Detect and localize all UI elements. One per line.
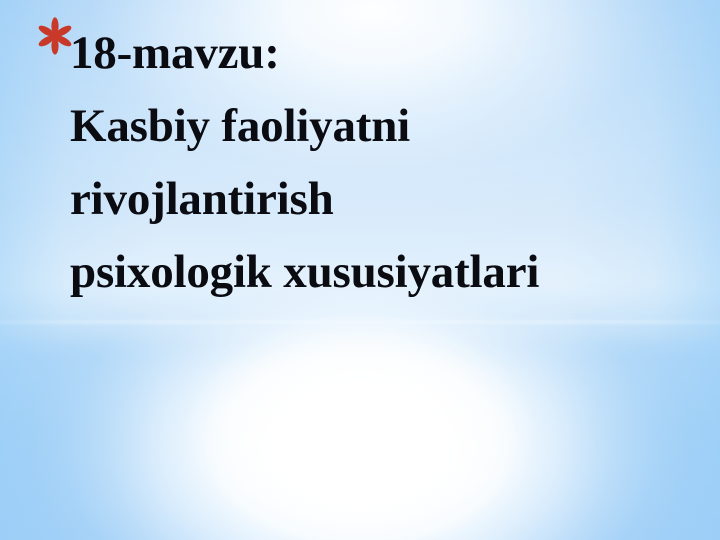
page-title: 18-mavzu:Kasbiy faoliyatnirivojlantirish… <box>70 17 710 309</box>
title-line-3: rivojlantirish <box>70 163 710 236</box>
title-line-2: Kasbiy faoliyatni <box>70 90 710 163</box>
title-line-1: 18-mavzu: <box>70 17 710 90</box>
asterisk-icon <box>36 17 74 55</box>
slide-title-block: 18-mavzu:Kasbiy faoliyatnirivojlantirish… <box>70 17 710 309</box>
slide-canvas: 18-mavzu:Kasbiy faoliyatnirivojlantirish… <box>0 0 720 540</box>
title-line-4: psixologik xususiyatlari <box>70 236 710 309</box>
